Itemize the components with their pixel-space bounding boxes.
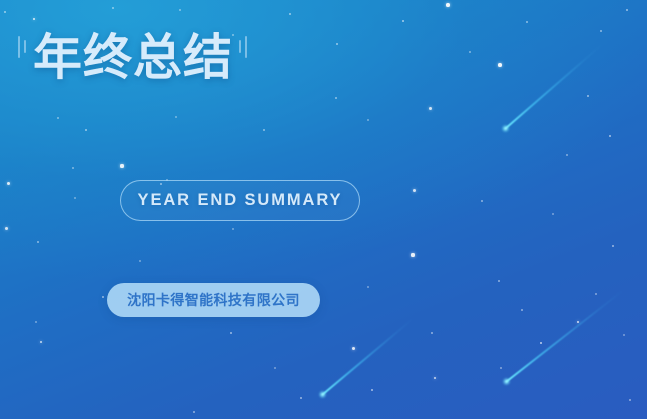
star-dot — [446, 3, 450, 7]
star-dot — [72, 167, 74, 169]
star-dot — [274, 367, 276, 369]
star-dot — [431, 332, 433, 334]
star-dot — [102, 296, 104, 298]
main-title-text: 年终总结 — [33, 33, 233, 82]
star-dot — [37, 241, 39, 243]
star-dot — [193, 411, 195, 413]
star-dot — [300, 397, 302, 399]
meteor-head-icon — [503, 378, 510, 385]
star-dot — [232, 228, 234, 230]
star-dot — [595, 293, 597, 295]
star-dot — [609, 135, 611, 137]
star-dot — [175, 116, 177, 118]
meteor-head-icon — [319, 391, 326, 398]
star-dot — [85, 129, 87, 131]
star-dot — [230, 332, 232, 334]
star-dot — [7, 182, 10, 185]
star-dot — [179, 9, 181, 11]
star-dot — [434, 377, 437, 380]
star-dot — [413, 189, 416, 192]
star-dot — [498, 280, 500, 282]
star-dot — [367, 286, 369, 288]
star-dot — [120, 164, 123, 167]
star-dot — [552, 213, 554, 215]
page-title: 年终总结 — [16, 30, 249, 84]
star-dot — [352, 347, 355, 350]
star-dot — [540, 342, 543, 345]
star-dot — [112, 7, 114, 9]
star-dot — [57, 117, 59, 119]
company-name-label: 沈阳卡得智能科技有限公司 — [127, 290, 300, 310]
star-dot — [521, 309, 523, 311]
star-dot — [74, 197, 76, 199]
star-dot — [139, 260, 141, 262]
meteor-icon — [504, 44, 602, 130]
star-dot — [35, 321, 37, 323]
star-dot — [526, 21, 528, 23]
star-dot — [629, 399, 631, 401]
star-dot — [411, 253, 414, 256]
star-dot — [498, 63, 502, 67]
star-dot — [626, 9, 628, 11]
star-dot — [566, 154, 568, 156]
star-dot — [40, 341, 43, 344]
star-dot — [335, 97, 337, 99]
year-end-summary-slide: 年终总结 YEAR END SUMMARY 沈阳卡得智能科技有限公司 — [0, 0, 647, 419]
star-dot — [367, 119, 369, 121]
star-dot — [336, 43, 338, 45]
star-dot — [612, 245, 614, 247]
meteor-icon — [505, 290, 623, 383]
title-decor-right-icon — [237, 30, 249, 84]
star-dot — [371, 389, 373, 391]
star-dot — [33, 18, 36, 21]
title-decor-left-icon — [16, 30, 28, 84]
star-dot — [4, 11, 6, 13]
meteor-icon — [321, 318, 413, 396]
star-dot — [263, 129, 265, 131]
star-dot — [500, 367, 502, 369]
meteor-head-icon — [502, 125, 509, 132]
star-dot — [469, 51, 471, 53]
star-dot — [587, 95, 589, 97]
company-name-badge[interactable]: 沈阳卡得智能科技有限公司 — [107, 283, 320, 317]
star-dot — [5, 227, 8, 230]
star-dot — [429, 107, 432, 110]
year-end-summary-label: YEAR END SUMMARY — [138, 191, 343, 210]
star-dot — [623, 334, 625, 336]
star-dot — [577, 321, 580, 324]
star-dot — [481, 200, 483, 202]
year-end-summary-pill[interactable]: YEAR END SUMMARY — [120, 180, 360, 221]
star-dot — [600, 30, 602, 32]
star-dot — [402, 20, 405, 23]
star-dot — [289, 13, 291, 15]
